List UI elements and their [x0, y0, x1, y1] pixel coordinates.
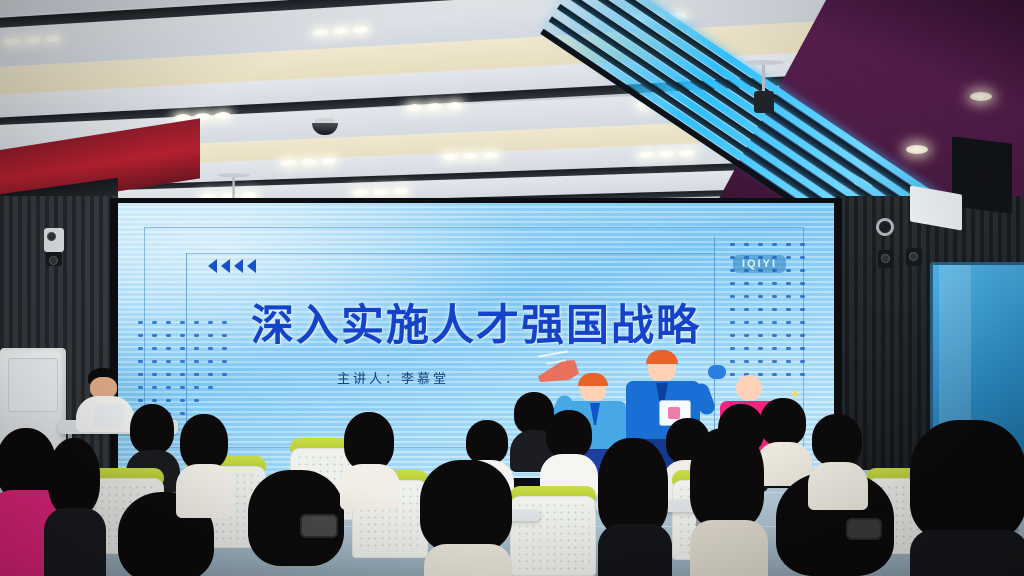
audience-member-foreground	[248, 470, 344, 576]
slide-title: 深入实施人才强国战略	[118, 291, 834, 353]
audience-member	[540, 410, 598, 486]
ptz-camera-icon	[878, 250, 894, 268]
glasses-icon	[846, 518, 882, 540]
laptop	[92, 404, 125, 428]
ptz-camera-icon	[46, 252, 62, 266]
audience-member	[808, 414, 868, 504]
audience-member-foreground	[44, 438, 106, 576]
downlight	[906, 145, 928, 154]
audience-member-foreground	[420, 460, 512, 576]
decor-arrows	[208, 259, 256, 273]
pendant-sensor	[744, 60, 784, 113]
ptz-camera-icon	[906, 248, 922, 266]
conference-room-photo: IQIYI 深入实施人	[0, 0, 1024, 576]
chat-bubble-icon	[708, 365, 726, 379]
downlight	[970, 92, 992, 101]
air-purifier-panel	[8, 358, 58, 412]
audience-chair[interactable]	[510, 486, 596, 576]
audience-member-foreground	[690, 428, 768, 576]
wall-sensor-box	[44, 228, 64, 252]
dome-camera-icon	[312, 118, 338, 134]
glasses-icon	[300, 514, 338, 538]
audience-member-foreground	[910, 420, 1024, 576]
audience-member-foreground	[598, 438, 672, 576]
audience-member	[340, 412, 400, 502]
ring-camera-icon	[876, 218, 894, 236]
audience-member	[176, 414, 234, 510]
